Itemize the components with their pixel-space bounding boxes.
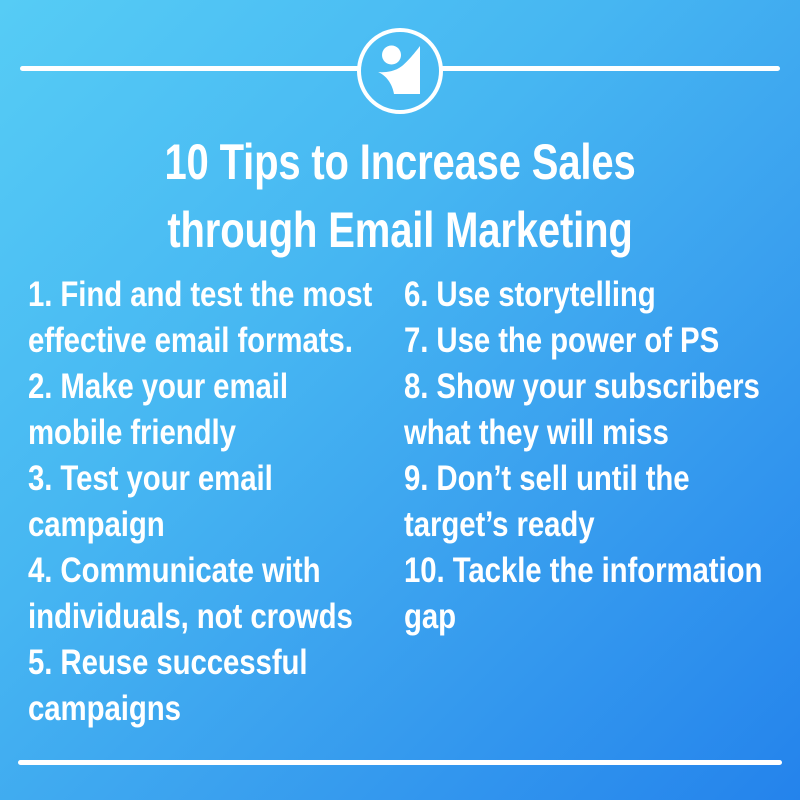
header-divider-right (440, 66, 780, 71)
logo-badge (357, 28, 443, 114)
tip-list-left: 1. Find and test the most effective emai… (28, 272, 386, 732)
list-item: 3. Test your email campaign (28, 456, 386, 548)
list-item: 1. Find and test the most effective emai… (28, 272, 386, 364)
tip-list-right: 6. Use storytelling 7. Use the power of … (404, 272, 782, 640)
list-item: 7. Use the power of PS (404, 318, 782, 364)
list-item: 8. Show your subscribers what they will … (404, 364, 782, 456)
tips-column-right: 6. Use storytelling 7. Use the power of … (400, 272, 800, 640)
footer-divider (18, 760, 782, 765)
header-divider-left (20, 66, 360, 71)
list-item: 5. Reuse successful campaigns (28, 640, 386, 732)
list-item: 4. Communicate with individuals, not cro… (28, 548, 386, 640)
list-item: 9. Don’t sell until the target’s ready (404, 456, 782, 548)
page-title: 10 Tips to Increase Sales through Email … (99, 128, 701, 264)
list-item: 10. Tackle the information gap (404, 548, 782, 640)
tips-column-left: 1. Find and test the most effective emai… (0, 272, 400, 732)
person-with-flag-logo-icon (376, 44, 424, 98)
list-item: 2. Make your email mobile friendly (28, 364, 386, 456)
list-item: 6. Use storytelling (404, 272, 782, 318)
email-marketing-tips-poster: 10 Tips to Increase Sales through Email … (0, 0, 800, 800)
tips-columns: 1. Find and test the most effective emai… (0, 272, 800, 732)
